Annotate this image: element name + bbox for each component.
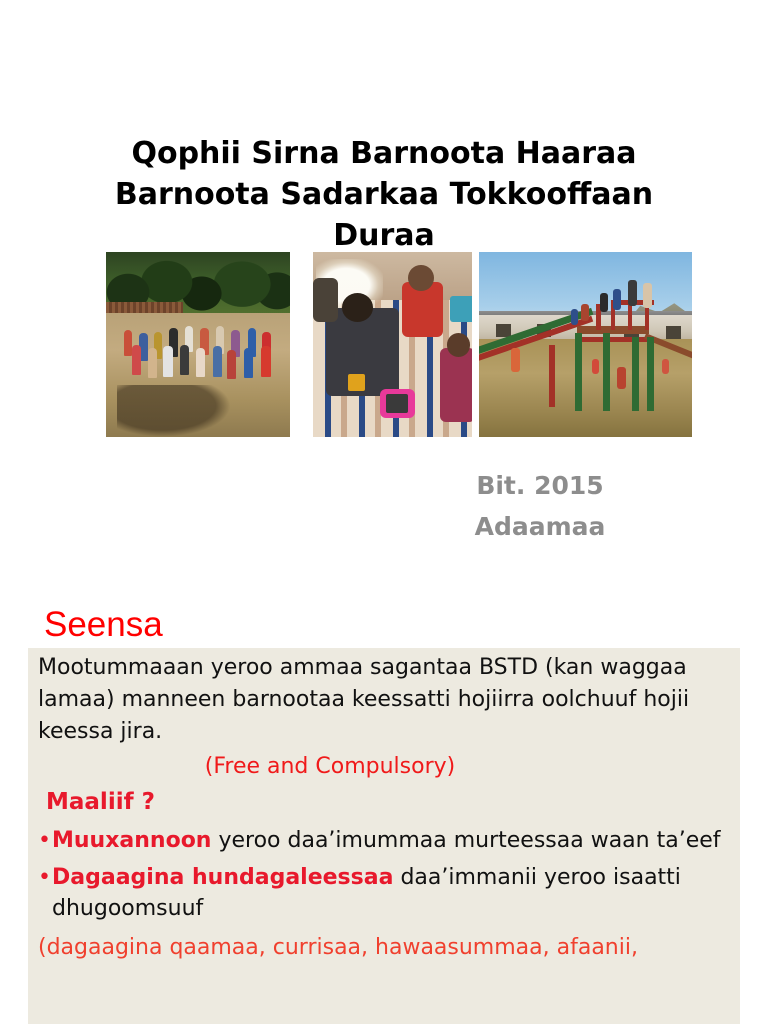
photo-children-on-mat-indoors (313, 252, 472, 437)
title-line-1: Qophii Sirna Barnoota Haaraa (40, 133, 728, 174)
subtitle: Bit. 2015 Adaamaa (400, 465, 680, 547)
title-line-2: Barnoota Sadarkaa Tokkooffaan (40, 174, 728, 215)
photo-playground-slide (479, 252, 692, 437)
list-item: • Muuxannoon yeroo daa’imummaa murteessa… (38, 825, 732, 856)
content-box: Mootummaaan yeroo ammaa sagantaa BSTD (k… (28, 648, 740, 1024)
bullet-text: Dagaagina hundagaleessaa daa’immanii yer… (52, 862, 732, 924)
subtitle-line-place: Adaamaa (400, 506, 680, 547)
question-maaliif: Maaliif ? (46, 785, 732, 819)
slide-page: { "slide": { "title_lines": [ "Qophii Si… (0, 0, 768, 1024)
list-item: • Dagaagina hundagaleessaa daa’immanii y… (38, 862, 732, 924)
page-title: Qophii Sirna Barnoota Haaraa Barnoota Sa… (40, 133, 728, 256)
parenthetical-note: (Free and Compulsory) (38, 751, 732, 783)
intro-paragraph: Mootummaaan yeroo ammaa sagantaa BSTD (k… (38, 652, 732, 748)
photo-children-circle-outdoors (106, 252, 290, 437)
bullet-keyword: Dagaagina hundagaleessaa (52, 865, 393, 890)
section-heading-seensa: Seensa (44, 604, 163, 646)
bullet-rest: yeroo daa’imummaa murteessaa waan ta’eef (211, 828, 720, 853)
bullet-dot-icon: • (38, 825, 52, 856)
bullet-keyword: Muuxannoon (52, 828, 211, 853)
subtitle-line-date: Bit. 2015 (400, 465, 680, 506)
bullet-text: Muuxannoon yeroo daa’imummaa murteessaa … (52, 825, 732, 856)
bullet-dot-icon: • (38, 862, 52, 893)
photo-strip (106, 252, 692, 437)
title-line-3: Duraa (40, 215, 728, 256)
tail-note: (dagaagina qaamaa, currisaa, hawaasummaa… (38, 932, 732, 963)
